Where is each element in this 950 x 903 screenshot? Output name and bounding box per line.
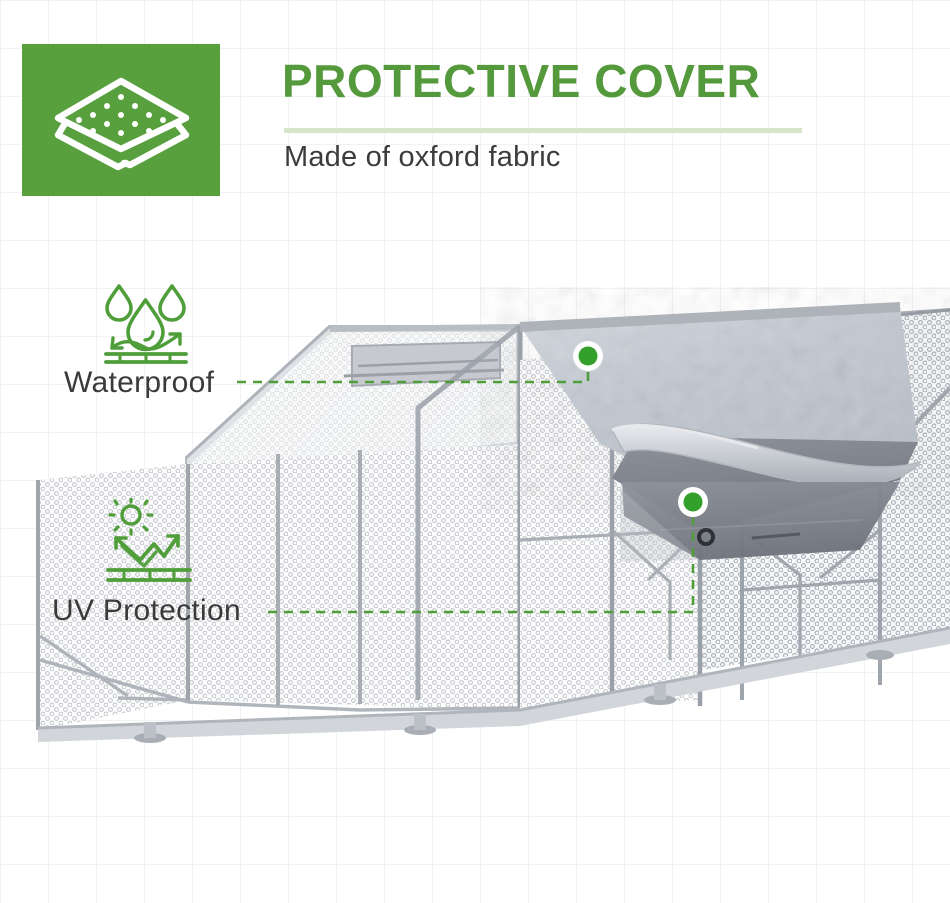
infographic-page: PROTECTIVE COVER Made of oxford fabric <box>0 0 950 903</box>
feature-label-uv-protection: UV Protection <box>52 594 241 628</box>
page-title: PROTECTIVE COVER <box>282 57 760 105</box>
page-subtitle: Made of oxford fabric <box>284 141 561 174</box>
layered-fabric-icon <box>46 63 196 178</box>
water-droplets-repel-icon <box>100 278 192 364</box>
roof-hatch <box>344 342 504 386</box>
title-divider <box>284 128 802 133</box>
sun-uv-deflect-icon <box>100 498 196 588</box>
header-icon-box <box>22 44 220 196</box>
feature-label-waterproof: Waterproof <box>64 366 214 400</box>
